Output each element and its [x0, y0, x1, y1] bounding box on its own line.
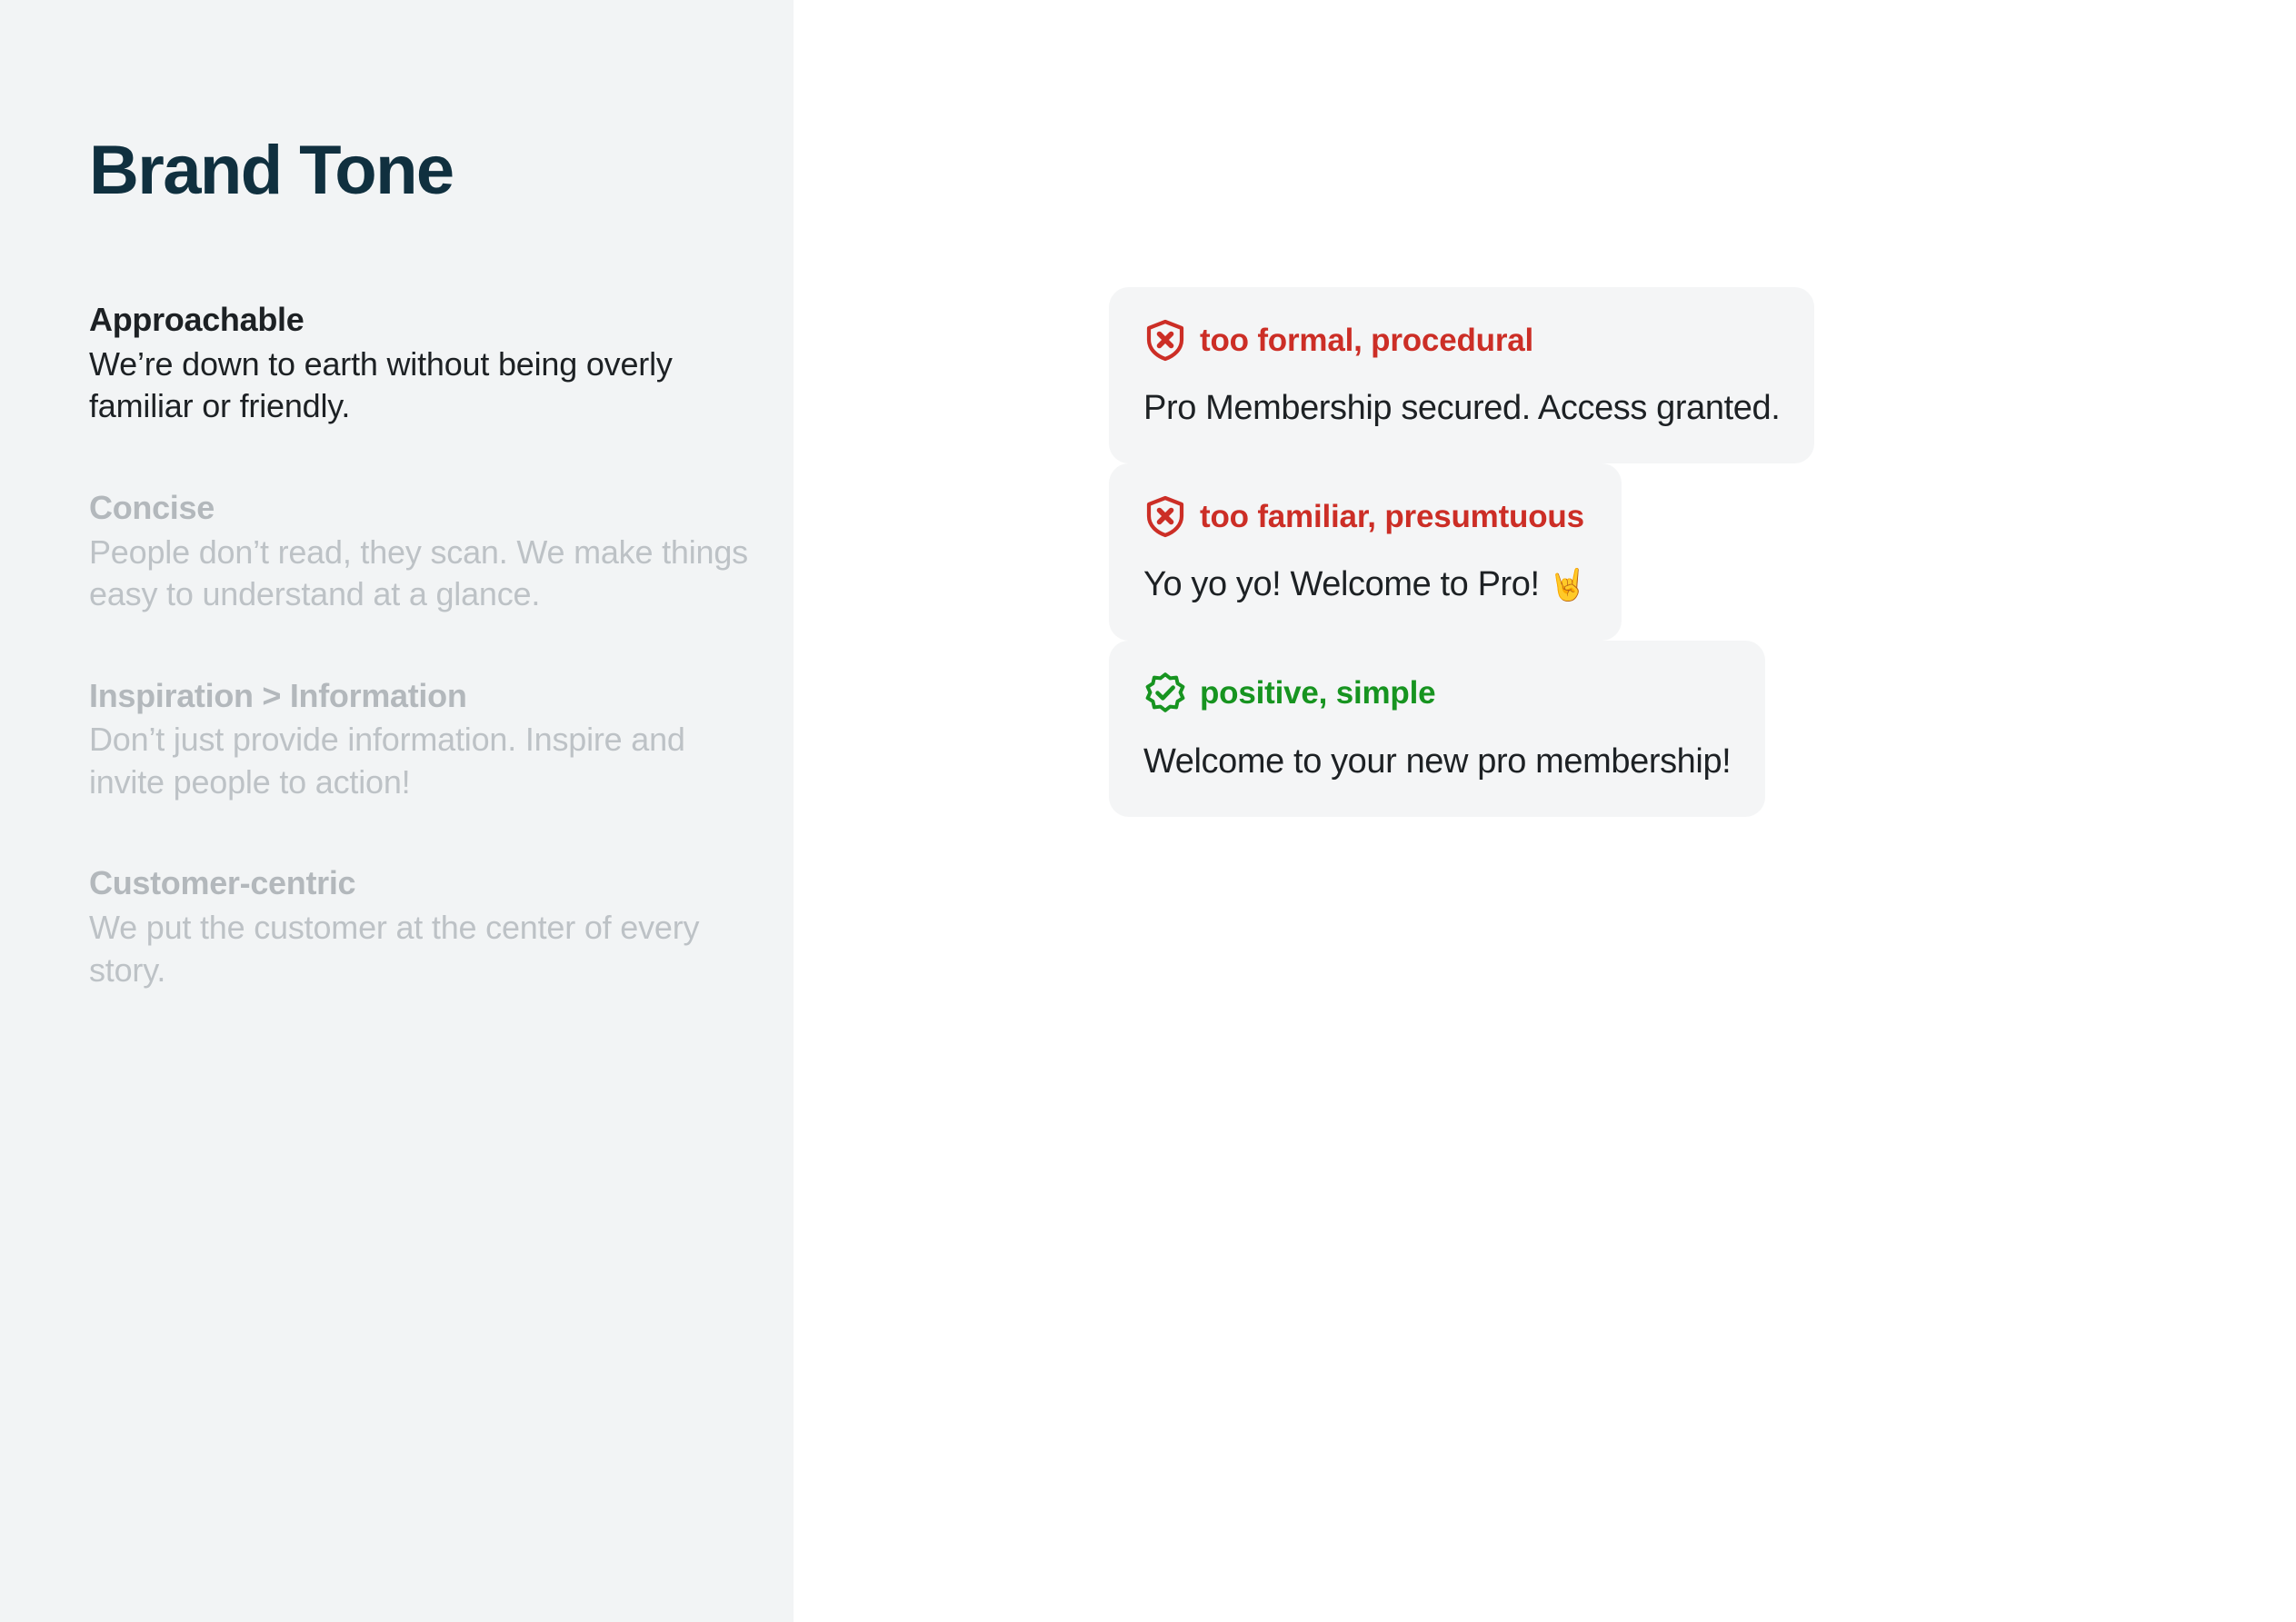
principle-title: Approachable	[89, 300, 762, 340]
principle-concise: Concise People don’t read, they scan. We…	[89, 488, 762, 616]
shield-x-icon	[1143, 318, 1187, 362]
card-message: Welcome to your new pro membership!	[1143, 741, 1731, 782]
example-row: too formal, procedural Pro Membership se…	[1109, 287, 1814, 463]
card-header: positive, simple	[1143, 672, 1731, 715]
examples-panel: too formal, procedural Pro Membership se…	[794, 0, 2296, 1622]
page-title: Brand Tone	[89, 136, 794, 205]
card-message-text: Yo yo yo! Welcome to Pro!	[1143, 565, 1540, 603]
principle-title: Inspiration > Information	[89, 676, 762, 716]
card-message: Yo yo yo! Welcome to Pro! 🤘	[1143, 563, 1587, 605]
example-row: too familiar, presumtuous Yo yo yo! Welc…	[1109, 463, 1814, 640]
principle-description: We put the customer at the center of eve…	[89, 907, 762, 991]
slide-root: Brand Tone Approachable We’re down to ea…	[0, 0, 2296, 1622]
principle-description: Don’t just provide information. Inspire …	[89, 719, 762, 803]
example-card-too-familiar: too familiar, presumtuous Yo yo yo! Welc…	[1109, 463, 1622, 640]
example-row: positive, simple Welcome to your new pro…	[1109, 641, 1814, 817]
card-header: too familiar, presumtuous	[1143, 494, 1587, 538]
badge-check-icon	[1143, 672, 1187, 715]
card-message: Pro Membership secured. Access granted.	[1143, 387, 1780, 429]
principle-approachable: Approachable We’re down to earth without…	[89, 300, 762, 428]
card-label: too formal, procedural	[1200, 324, 1533, 356]
card-header: too formal, procedural	[1143, 318, 1780, 362]
card-label: too familiar, presumtuous	[1200, 501, 1584, 532]
example-card-positive-simple: positive, simple Welcome to your new pro…	[1109, 641, 1765, 817]
rock-on-hand-emoji: 🤘	[1549, 568, 1587, 602]
principle-inspiration-over-information: Inspiration > Information Don’t just pro…	[89, 676, 762, 804]
sidebar: Brand Tone Approachable We’re down to ea…	[0, 0, 794, 1622]
card-label: positive, simple	[1200, 677, 1435, 709]
principle-description: People don’t read, they scan. We make th…	[89, 532, 762, 616]
principle-title: Concise	[89, 488, 762, 528]
shield-x-icon	[1143, 494, 1187, 538]
principle-description: We’re down to earth without being overly…	[89, 343, 762, 428]
example-card-too-formal: too formal, procedural Pro Membership se…	[1109, 287, 1814, 463]
principle-title: Customer-centric	[89, 863, 762, 903]
principle-customer-centric: Customer-centric We put the customer at …	[89, 863, 762, 991]
example-card-list: too formal, procedural Pro Membership se…	[1109, 287, 1814, 817]
